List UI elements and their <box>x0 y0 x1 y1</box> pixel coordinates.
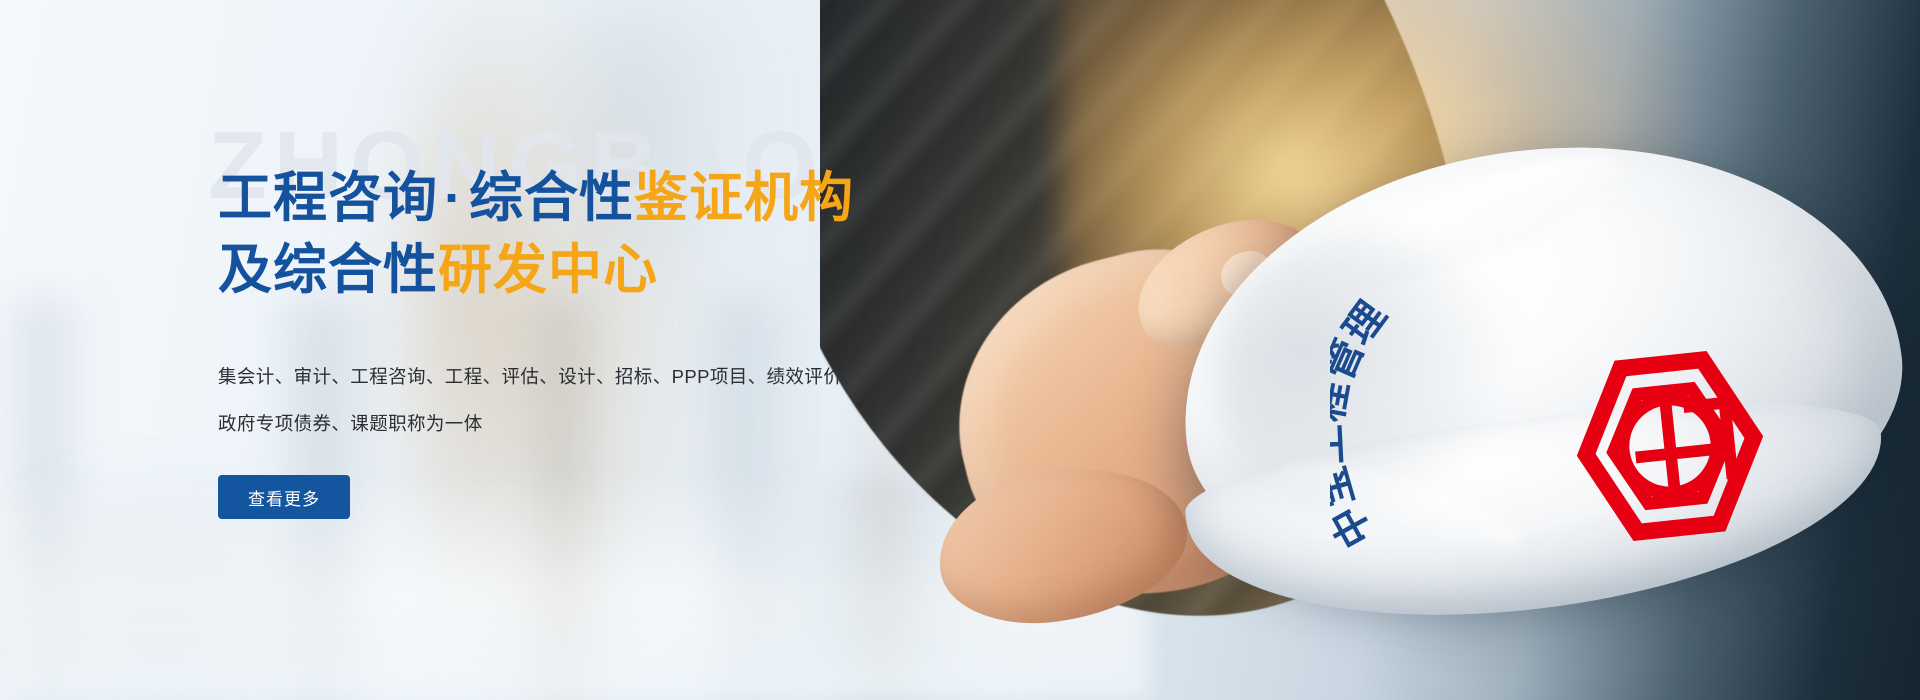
headline-line1-part1: 工程咨询 <box>218 168 438 228</box>
hero-banner: 中宝工程管理 ZHONGB <box>0 0 1920 700</box>
description-line-1: 集会计、审计、工程咨询、工程、评估、设计、招标、PPP项目、绩效评价、 <box>218 353 1118 400</box>
headline-line2-part1: 及综合性 <box>218 240 438 300</box>
headline-line2-highlight: 研发中心 <box>438 240 658 300</box>
headline-line-1: 工程咨询·综合性鉴证机构 <box>218 162 1118 234</box>
description: 集会计、审计、工程咨询、工程、评估、设计、招标、PPP项目、绩效评价、 政府专项… <box>218 353 1118 447</box>
headline-separator-dot: · <box>438 168 469 228</box>
zhongbao-hexagon-logo-icon <box>1562 338 1777 553</box>
helmet-text-path: 中宝工程管理 <box>1330 294 1395 554</box>
headline: 工程咨询·综合性鉴证机构 及综合性研发中心 <box>218 162 1118 307</box>
headline-line-2: 及综合性研发中心 <box>218 234 1118 306</box>
headline-line1-highlight: 鉴证机构 <box>634 168 854 228</box>
view-more-button[interactable]: 查看更多 <box>218 475 350 519</box>
safety-helmet: 中宝工程管理 <box>1180 150 1920 620</box>
svg-text:中宝工程管理: 中宝工程管理 <box>1330 294 1395 554</box>
hero-content: ZHONGBAO 工程咨询·综合性鉴证机构 及综合性研发中心 集会计、审计、工程… <box>218 118 1118 519</box>
description-line-2: 政府专项债券、课题职称为一体 <box>218 400 1118 447</box>
headline-line1-part2: 综合性 <box>469 168 634 228</box>
